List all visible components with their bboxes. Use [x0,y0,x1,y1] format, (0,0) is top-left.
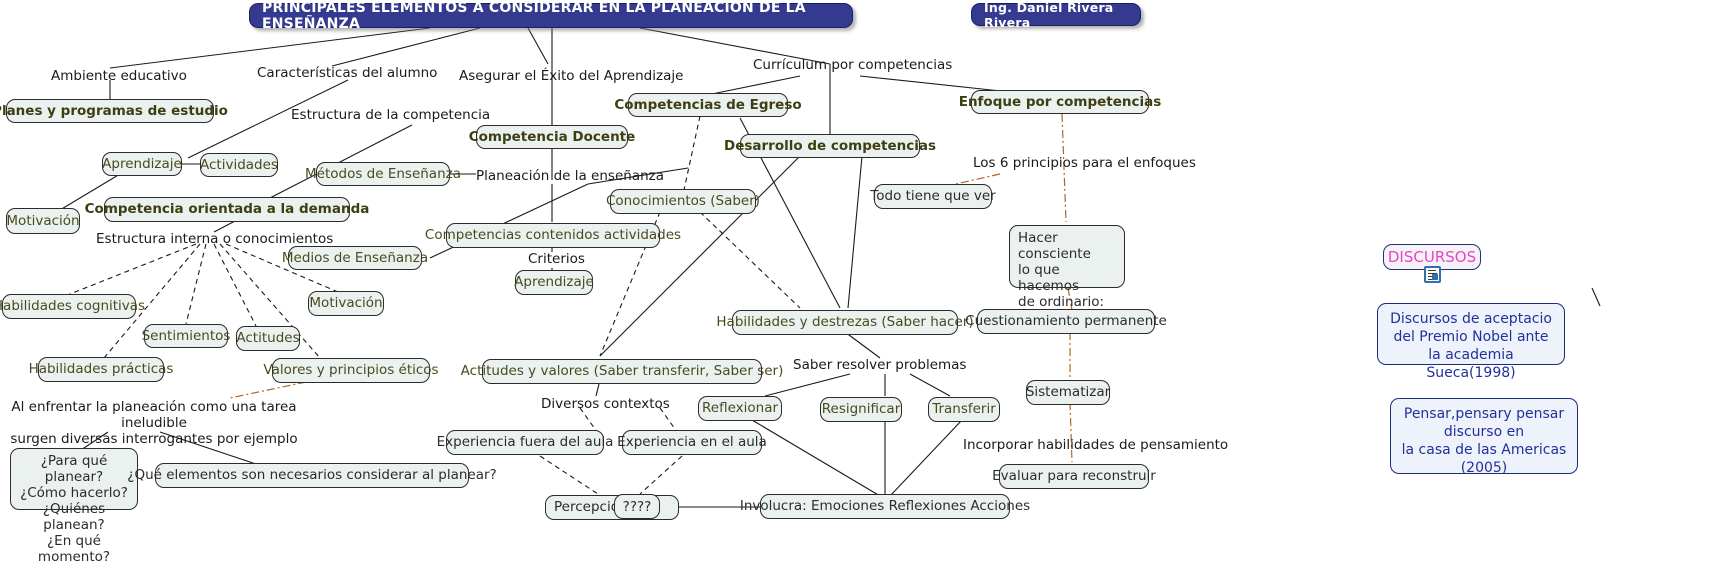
label-saber-resolver-problemas: Saber resolver problemas [793,357,966,373]
node-habilidades-destrezas[interactable]: Habilidades y destrezas (Saber hacer) [732,310,958,335]
node-habilidades-cognitivas[interactable]: Habilidades cognitivas [2,294,136,319]
node-habilidades-practicas[interactable]: Habilidades prácticas [38,357,164,382]
map-title-text: PRINCIPALES ELEMENTOS A CONSIDERAR EN LA… [262,0,840,32]
label-asegurar-exito: Asegurar el Éxito del Aprendizaje [459,68,683,84]
nobel-line-1: Discursos de aceptacio [1390,311,1552,327]
node-sistematizar[interactable]: Sistematizar [1026,380,1110,405]
label-estructura-interna: Estructura interna o conocimientos [96,231,333,247]
node-sentimientos[interactable]: Sentimientos [144,324,228,348]
node-actividades[interactable]: Actividades [200,153,278,177]
label-ambiente-educativo: Ambiente educativo [51,68,187,84]
node-hacer-consciente[interactable]: Hacer consciente lo que hacemos de ordin… [1009,225,1125,288]
node-evaluar-reconstruir[interactable]: Evaluar para reconstruir [999,464,1149,489]
node-todo-tiene-que-ver[interactable]: Todo tiene que ver [874,184,992,209]
pregunta-line-3: ¿Quiénes planean? [43,501,105,533]
node-reflexionar[interactable]: Reflexionar [698,396,782,421]
node-competencias-egreso[interactable]: Competencias de Egreso [628,93,788,117]
label-al-enfrentar-line2: surgen diversas interrogantes por ejempl… [10,431,297,447]
node-cuestionamiento-permanente[interactable]: Cuestionamiento permanente [977,309,1155,334]
pregunta-line-2: ¿Cómo hacerlo? [20,485,128,501]
node-competencia-docente[interactable]: Competencia Docente [476,125,628,149]
pensar-line-4: (2005) [1461,460,1508,476]
label-estructura-competencia: Estructura de la competencia [291,107,490,123]
label-los-6-principios: Los 6 principios para el enfoques [973,155,1196,171]
node-competencia-orientada[interactable]: Competencia orientada a la demanda [104,197,350,222]
node-metodos-ensenanza[interactable]: Métodos de Enseñanza [316,162,450,186]
node-experiencia-fuera-aula[interactable]: Experiencia fuera del aula [446,430,604,455]
nobel-line-2: del Premio Nobel ante [1393,329,1548,345]
label-criterios: Criterios [528,251,585,267]
node-actitudes-valores[interactable]: Actitudes y valores (Saber transferir, S… [482,359,762,384]
bluebox-pensar-discurso[interactable]: Pensar,pensary pensar discurso en la cas… [1390,398,1578,474]
bluebox-discursos-nobel[interactable]: Discursos de aceptacio del Premio Nobel … [1377,303,1565,365]
label-incorporar-habilidades: Incorporar habilidades de pensamiento [963,437,1228,453]
map-title-banner: PRINCIPALES ELEMENTOS A CONSIDERAR EN LA… [249,3,853,28]
nobel-line-3: la academia Sueca(1998) [1426,347,1515,381]
node-experiencia-en-aula[interactable]: Experiencia en el aula [622,430,762,455]
pensar-line-3: la casa de las Americas [1402,442,1567,458]
node-involucra[interactable]: Involucra: Emociones Reflexiones Accione… [760,494,1010,519]
node-aprendizaje-top[interactable]: Aprendizaje [102,152,182,176]
hacer-consciente-line-1: Hacer consciente [1018,230,1091,262]
hacer-consciente-line-3: de ordinario: [1018,294,1104,310]
node-planes-programas[interactable]: Planes y programas de estudio [6,99,214,123]
node-que-elementos[interactable]: ¿Qué elementos son necesarios considerar… [155,463,469,488]
node-motivacion-left[interactable]: Motivación [6,208,80,234]
pensar-line-1: Pensar,pensary pensar [1404,406,1564,422]
node-aprendizaje-criterios[interactable]: Aprendizaje [515,270,593,295]
node-enfoque-competencias[interactable]: Enfoque por competencias [971,90,1149,114]
author-text: Ing. Daniel Rivera Rivera [984,0,1128,30]
node-inner-question[interactable]: ???? [614,494,660,519]
label-planeacion-ensenanza: Planeación de la enseñanza [476,168,664,184]
node-desarrollo-competencias[interactable]: Desarrollo de competencias [740,134,920,158]
node-conocimientos-saber[interactable]: Conocimientos (Saber) [610,189,756,214]
document-icon[interactable] [1424,266,1441,283]
node-transferir[interactable]: Transferir [928,397,1000,422]
label-al-enfrentar-line1: Al enfrentar la planeación como una tare… [11,399,296,431]
node-competencias-contenidos[interactable]: Competencias contenidos actividades [446,223,660,248]
label-curriculum-competencias: Currículum por competencias [753,57,952,73]
label-diversos-contextos: Diversos contextos [541,396,670,412]
label-caracteristicas-alumno: Características del alumno [257,65,437,81]
hacer-consciente-line-2: lo que hacemos [1018,262,1079,294]
node-preguntas-planeacion[interactable]: ¿Para qué planear? ¿Cómo hacerlo? ¿Quién… [10,448,138,510]
node-motivacion-mid[interactable]: Motivación [308,291,384,316]
node-valores-principios[interactable]: Valores y principios éticos [272,358,430,383]
node-actitudes[interactable]: Actitudes [236,326,300,351]
pregunta-line-1: ¿Para qué planear? [41,453,108,485]
pregunta-line-4: ¿En qué momento? [38,533,110,565]
pensar-line-2: discurso en [1444,424,1524,440]
concept-map-canvas: PRINCIPALES ELEMENTOS A CONSIDERAR EN LA… [0,0,1718,572]
node-resignificar[interactable]: Resignificar [820,397,902,422]
node-medios-ensenanza[interactable]: Medios de Enseñanza [288,246,422,270]
label-al-enfrentar-planeacion: Al enfrentar la planeación como una tare… [4,399,304,447]
author-banner: Ing. Daniel Rivera Rivera [971,3,1141,26]
